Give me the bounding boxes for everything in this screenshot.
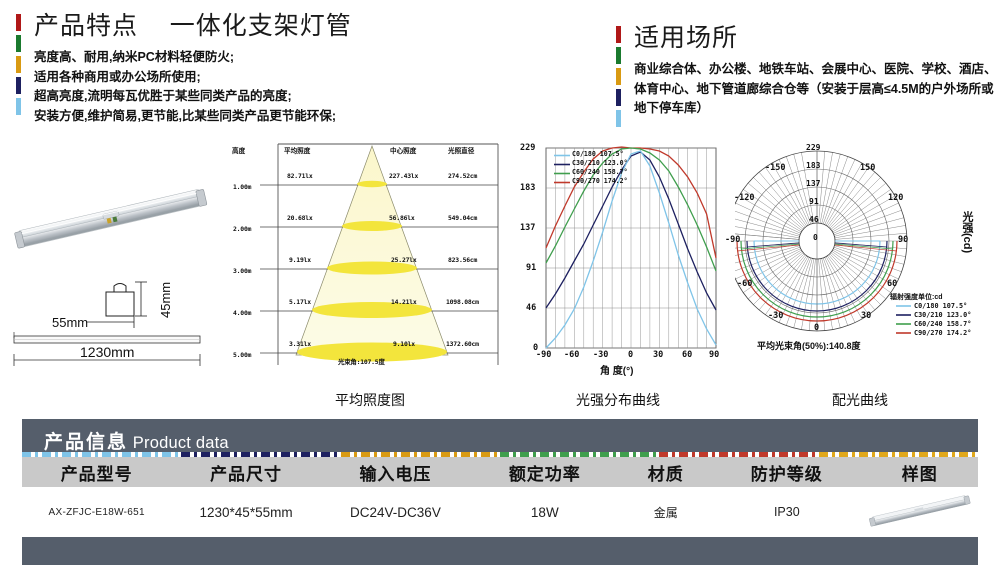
illum-center-4: 14.21lx: [391, 298, 417, 306]
col-header-size: 产品尺寸: [171, 457, 320, 487]
product-spec-sheet: 产品特点 一体化支架灯管 亮度高、耐用,纳米PC材料轻便防火; 适用各种商用或办…: [0, 0, 1000, 579]
intensity-xtick-30: 30: [653, 350, 663, 360]
polar-legend-4: C90/270 174.2°: [914, 329, 971, 337]
polar-legend-1: C0/180 107.5°: [914, 302, 967, 310]
polar-unit-label: 辐射强度单位:cd: [890, 292, 943, 302]
product-data-footer-bar: [22, 537, 978, 565]
intensity-xtick-m60: -60: [564, 350, 579, 360]
polar-beam-angle-note: 平均光束角(50%):140.8度: [757, 339, 861, 352]
product-data-title-en: Product data: [128, 434, 229, 452]
polar-angle-120: 120: [888, 193, 903, 203]
application-list: 商业综合体、办公楼、地铁车站、会展中心、医院、学校、酒店、 体育中心、地下管道廊…: [634, 60, 996, 119]
polar-legend-2: C30/210 123.0°: [914, 311, 971, 319]
application-section: 适用场所 商业综合体、办公楼、地铁车站、会展中心、医院、学校、酒店、 体育中心、…: [616, 26, 996, 119]
illum-diameter-2: 549.04cm: [448, 214, 477, 222]
average-illuminance-chart: 高度 平均照度 中心照度 光照直径 1.00m 82.71lx 227.43lx…: [232, 142, 500, 367]
col-header-model: 产品型号: [22, 457, 171, 487]
features-line-4: 安装方便,维护简易,更节能,比某些同类产品更节能环保;: [34, 107, 516, 127]
illum-col-avg: 平均照度: [284, 145, 310, 155]
polar-rtick-137: 137: [806, 179, 820, 188]
illum-height-1: 1.00m: [233, 183, 251, 191]
intensity-legend-4: C90/270 174.2°: [572, 177, 628, 185]
application-line-2: 体育中心、地下管道廊综合仓等（安装于层高≤4.5M的户外场所或: [634, 80, 996, 100]
application-line-1: 商业综合体、办公楼、地铁车站、会展中心、医院、学校、酒店、: [634, 60, 996, 80]
dimension-length-label: 1230mm: [80, 344, 134, 360]
cell-size: 1230*45*55mm: [171, 487, 320, 537]
col-header-voltage: 输入电压: [321, 457, 470, 487]
polar-angle-150: 150: [860, 163, 875, 173]
dimension-drawing: 45mm 55mm 1230mm: [8, 270, 213, 370]
illum-diameter-3: 823.56cm: [448, 256, 477, 264]
polar-rtick-46: 46: [809, 215, 819, 224]
intensity-ytick-183: 183: [520, 183, 535, 193]
illum-diameter-1: 274.52cm: [448, 172, 477, 180]
illum-avg-3: 9.19lx: [289, 256, 311, 264]
features-line-3: 超高亮度,流明每瓦优胜于某些同类产品的亮度;: [34, 87, 516, 107]
features-title: 产品特点 一体化支架灯管: [34, 14, 516, 39]
polar-angle-60: 60: [887, 279, 897, 289]
polar-rtick-229: 229: [806, 143, 820, 152]
product-data-title-cn: 产品信息: [44, 432, 128, 453]
polar-angle-m120: -120: [734, 193, 754, 203]
dimension-height-label: 45mm: [158, 282, 173, 318]
intensity-legend-1: C0/180 107.5°: [572, 150, 624, 158]
cell-sample-image: [861, 487, 978, 537]
illum-col-diameter: 光照直径: [448, 145, 474, 155]
application-title: 适用场所: [634, 26, 996, 51]
features-section: 产品特点 一体化支架灯管 亮度高、耐用,纳米PC材料轻便防火; 适用各种商用或办…: [16, 14, 516, 126]
application-line-3: 地下停车库）: [634, 99, 996, 119]
illum-height-5: 5.00m: [233, 351, 251, 359]
intensity-xtick-90: 90: [709, 350, 719, 360]
features-line-2: 适用各种商用或办公场所使用;: [34, 68, 516, 88]
caption-intensity: 光强分布曲线: [528, 390, 708, 410]
illum-height-4: 4.00m: [233, 309, 251, 317]
cell-ip: IP30: [712, 487, 861, 537]
illum-avg-1: 82.71lx: [287, 172, 313, 180]
cell-voltage: DC24V-DC36V: [321, 487, 470, 537]
intensity-ytick-229: 229: [520, 143, 535, 153]
illum-center-3: 25.27lx: [391, 256, 417, 264]
features-line-1: 亮度高、耐用,纳米PC材料轻便防火;: [34, 48, 516, 68]
illum-col-center: 中心照度: [390, 145, 416, 155]
dimension-width-label: 55mm: [52, 315, 88, 330]
product-table-header: 产品型号 产品尺寸 输入电压 额定功率 材质 防护等级 样图: [22, 457, 978, 487]
product-data-title: 产品信息 Product data: [44, 427, 229, 454]
features-list: 亮度高、耐用,纳米PC材料轻便防火; 适用各种商用或办公场所使用; 超高亮度,流…: [34, 48, 516, 126]
intensity-xaxis-label: 角 度(°): [600, 362, 633, 377]
illum-diameter-4: 1098.08cm: [446, 298, 479, 306]
illum-height-3: 3.00m: [233, 267, 251, 275]
illum-avg-2: 20.68lx: [287, 214, 313, 222]
illum-diameter-5: 1372.60cm: [446, 340, 479, 348]
polar-angle-90: 90: [898, 235, 908, 245]
features-bullet-bars: [16, 14, 23, 119]
col-header-sample: 样图: [861, 457, 978, 487]
illum-avg-5: 3.31lx: [289, 340, 311, 348]
caption-polar: 配光曲线: [770, 390, 950, 410]
polar-distribution-chart: 229 183 137 91 46 0 -150 -120 -90 -60 -3…: [735, 143, 980, 368]
application-bullet-bars: [616, 26, 623, 131]
intensity-ytick-46: 46: [526, 303, 536, 313]
polar-legend-3: C60/240 158.7°: [914, 320, 971, 328]
intensity-xtick-60: 60: [682, 350, 692, 360]
polar-rtick-0-top: 0: [813, 233, 818, 242]
illum-center-2: 56.86lx: [389, 214, 415, 222]
col-header-ip: 防护等级: [712, 457, 861, 487]
cell-model: AX-ZFJC-E18W-651: [22, 487, 171, 537]
illum-col-height: 高度: [232, 145, 245, 155]
polar-rtick-91: 91: [809, 197, 819, 206]
polar-angle-m90: -90: [725, 235, 740, 245]
polar-angle-0: 0: [814, 323, 819, 333]
illum-beam-angle-note: 光束角:107.5度: [338, 357, 385, 366]
illum-center-1: 227.43lx: [389, 172, 418, 180]
polar-angle-m150: -150: [765, 163, 785, 173]
product-photo: [8, 180, 213, 260]
illum-avg-4: 5.17lx: [289, 298, 311, 306]
polar-angle-m30: -30: [768, 311, 783, 321]
intensity-ytick-91: 91: [526, 263, 536, 273]
polar-axis-label: 光强(cd): [959, 211, 975, 253]
cell-power: 18W: [470, 487, 619, 537]
polar-angle-30: 30: [861, 311, 871, 321]
intensity-legend-3: C60/240 158.7°: [572, 168, 628, 176]
intensity-xtick-m90: -90: [536, 350, 551, 360]
intensity-xtick-m30: -30: [593, 350, 608, 360]
illum-center-5: 9.10lx: [393, 340, 415, 348]
col-header-power: 额定功率: [470, 457, 619, 487]
intensity-ytick-137: 137: [520, 223, 535, 233]
intensity-legend-2: C30/210 123.0°: [572, 159, 628, 167]
luminous-intensity-chart: C0/180 107.5° C30/210 123.0° C60/240 158…: [512, 140, 724, 380]
table-row: AX-ZFJC-E18W-651 1230*45*55mm DC24V-DC36…: [22, 487, 978, 537]
caption-illuminance: 平均照度图: [280, 390, 460, 410]
cell-material: 金属: [620, 487, 713, 537]
polar-angle-m60: -60: [737, 279, 752, 289]
col-header-material: 材质: [620, 457, 713, 487]
intensity-xtick-0: 0: [628, 350, 633, 360]
polar-rtick-183: 183: [806, 161, 820, 170]
illum-height-2: 2.00m: [233, 225, 251, 233]
